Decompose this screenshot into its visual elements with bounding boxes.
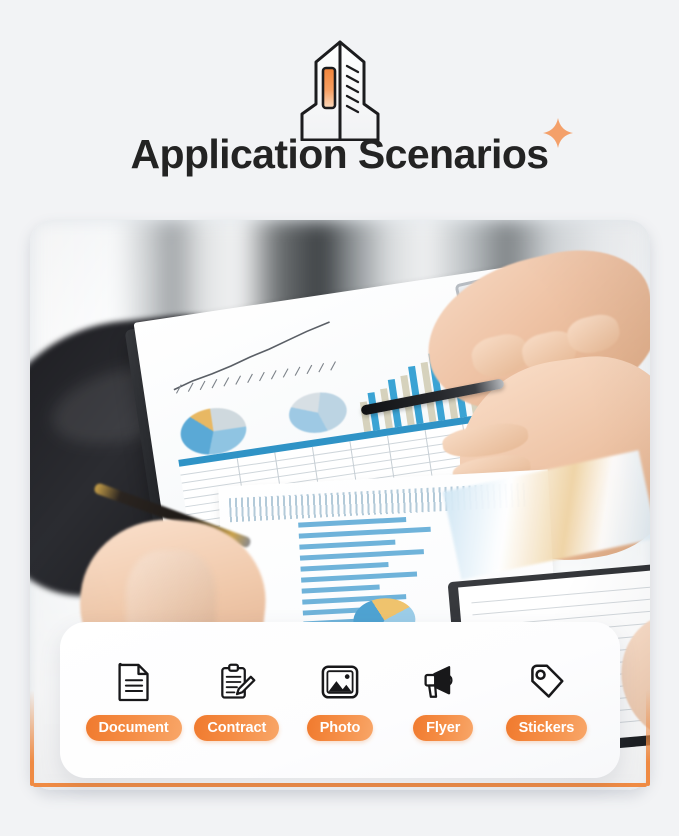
- page-header: Application Scenarios: [0, 0, 679, 210]
- badge-contract[interactable]: Contract: [185, 660, 288, 741]
- badge-flyer[interactable]: Flyer: [392, 660, 495, 741]
- badge-document[interactable]: Document: [82, 660, 185, 741]
- photo-accent-bottom: [33, 783, 647, 787]
- badge-label: Contract: [194, 715, 279, 741]
- scenario-badges-card: Document Contract: [60, 622, 620, 778]
- badge-stickers[interactable]: Stickers: [495, 660, 598, 741]
- building-icon: [294, 36, 386, 141]
- photo-accent-right: [646, 690, 650, 786]
- report-pie-chart-2: [286, 389, 349, 437]
- badge-label: Stickers: [506, 715, 588, 741]
- page-title-row: Application Scenarios: [0, 128, 679, 180]
- document-icon: [116, 660, 152, 704]
- clipboard-pencil-icon: [218, 660, 256, 704]
- tag-icon: [527, 660, 565, 704]
- megaphone-icon: [423, 660, 463, 704]
- badge-label: Document: [86, 715, 182, 741]
- photo-accent-left: [30, 690, 34, 786]
- badge-label: Photo: [307, 715, 374, 741]
- badge-label: Flyer: [413, 715, 473, 741]
- page-title: Application Scenarios: [130, 128, 548, 180]
- report-line-chart: [163, 315, 359, 398]
- badge-photo[interactable]: Photo: [288, 660, 391, 741]
- sparkle-icon: [541, 116, 575, 150]
- image-icon: [320, 660, 360, 704]
